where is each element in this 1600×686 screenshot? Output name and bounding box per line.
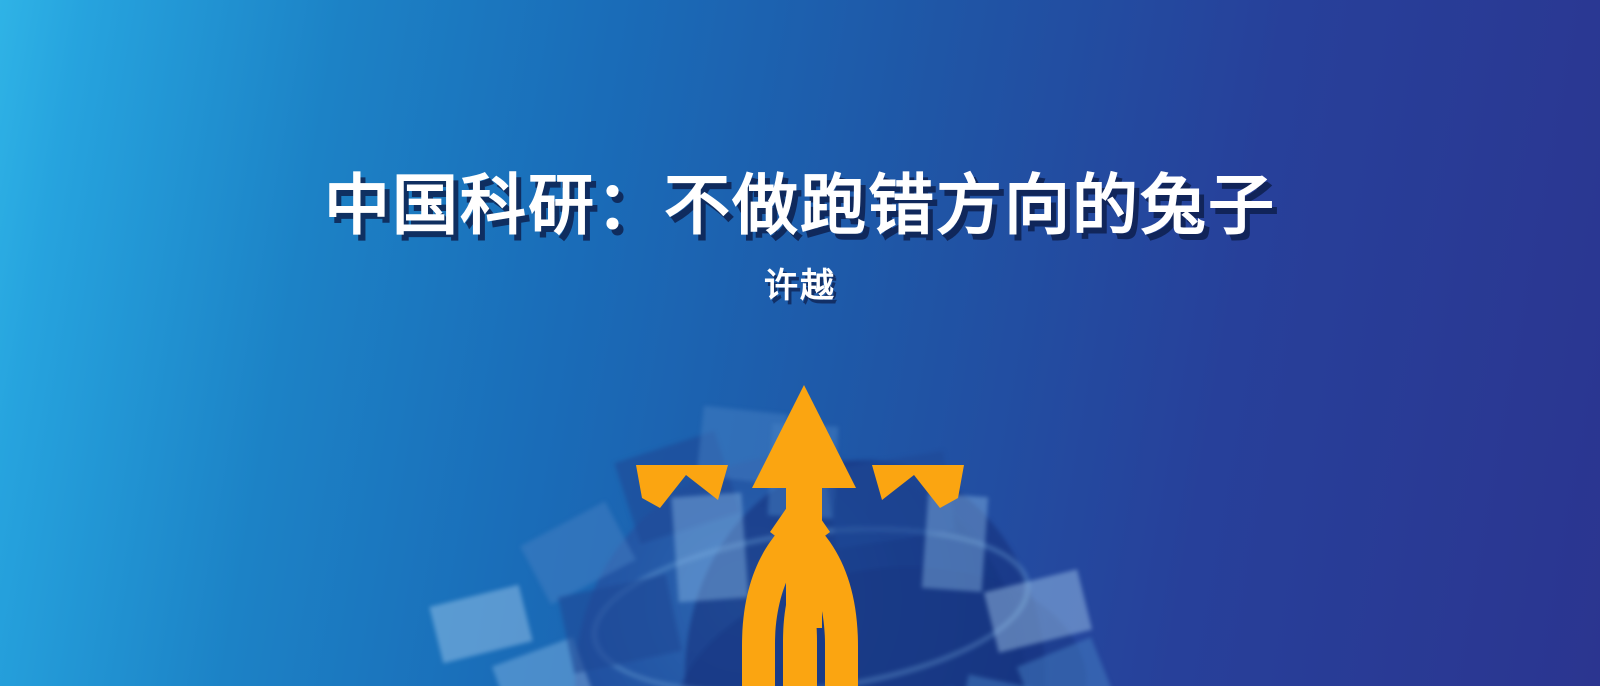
title-block: 中国科研：不做跑错方向的兔子 许越 — [0, 168, 1600, 307]
page-title: 中国科研：不做跑错方向的兔子 — [0, 168, 1600, 244]
title-slide: 中国科研：不做跑错方向的兔子 许越 — [0, 0, 1600, 686]
author-name: 许越 — [0, 258, 1600, 307]
three-way-arrow-icon — [600, 370, 1000, 686]
